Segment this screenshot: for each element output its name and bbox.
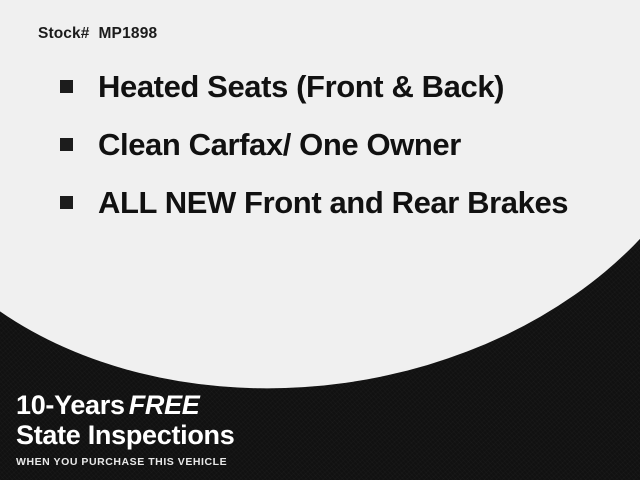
square-bullet-icon <box>60 196 73 209</box>
list-item: ALL NEW Front and Rear Brakes <box>60 182 600 225</box>
promo-block: 10-YearsFREE State Inspections WHEN YOU … <box>16 391 234 468</box>
stock-number-label: Stock# <box>38 25 89 42</box>
feature-text: Heated Seats (Front & Back) <box>98 66 504 109</box>
promo-fine-print: WHEN YOU PURCHASE THIS VEHICLE <box>16 456 234 468</box>
square-bullet-icon <box>60 138 73 151</box>
square-bullet-icon <box>60 80 73 93</box>
promo-headline-line1: 10-YearsFREE <box>16 391 234 420</box>
stock-number-value: MP1898 <box>98 25 157 42</box>
vehicle-feature-slide: Stock#MP1898 Heated Seats (Front & Back)… <box>0 0 640 480</box>
list-item: Clean Carfax/ One Owner <box>60 124 600 167</box>
promo-headline-emphasis: FREE <box>129 390 200 420</box>
list-item: Heated Seats (Front & Back) <box>60 66 600 109</box>
stock-number: Stock#MP1898 <box>38 25 157 43</box>
feature-list: Heated Seats (Front & Back) Clean Carfax… <box>60 66 600 239</box>
promo-headline-prefix: 10-Years <box>16 390 125 420</box>
feature-text: ALL NEW Front and Rear Brakes <box>98 182 568 225</box>
feature-text: Clean Carfax/ One Owner <box>98 124 461 167</box>
promo-headline-line2: State Inspections <box>16 420 234 450</box>
